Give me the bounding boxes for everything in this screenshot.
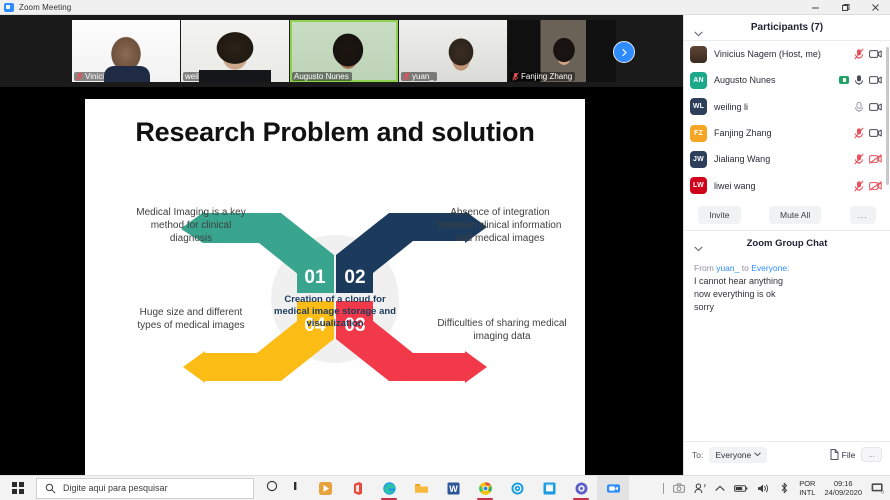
participants-header: Participants (7) (684, 15, 890, 41)
video-tile-nameplate: yuan_ (401, 72, 437, 81)
maximize-button[interactable] (830, 0, 860, 15)
start-button[interactable] (0, 476, 36, 500)
participant-name: Jialiang Wang (714, 154, 854, 164)
taskbar-search-box[interactable]: Digite aqui para pesquisar (36, 478, 254, 499)
avatar: WL (690, 98, 707, 115)
app-open-indicator (381, 498, 397, 500)
chevron-right-icon (620, 48, 629, 57)
video-tile[interactable]: yuan_ (399, 20, 507, 82)
next-participants-button[interactable] (613, 41, 635, 63)
word-icon[interactable]: W (437, 476, 469, 500)
chevron-down-icon (754, 452, 761, 457)
participant-name: Augusto Nunes (714, 75, 839, 85)
chat-from-prefix: From (694, 263, 716, 273)
bluetooth-icon[interactable] (779, 482, 790, 494)
explorer-icon[interactable] (405, 476, 437, 500)
chat-message-header: From yuan_ to Everyone: (694, 262, 880, 275)
participants-list: Vinicius Nagem (Host, me) (684, 41, 890, 199)
chat-more-button[interactable]: ... (861, 447, 882, 462)
chat-header: Zoom Group Chat (684, 231, 890, 256)
zoom-icon[interactable] (597, 476, 629, 500)
video-tile[interactable]: weiling li (181, 20, 289, 82)
mic-muted-icon[interactable] (854, 180, 864, 192)
store-icon[interactable] (533, 476, 565, 500)
mic-muted-icon (512, 72, 519, 81)
mute-all-button[interactable]: Mute All (769, 206, 821, 224)
cortana-icon[interactable] (266, 479, 278, 497)
right-side-panel: Participants (7) Vinicius Nagem (Host, m… (683, 15, 890, 475)
video-on-icon[interactable] (869, 102, 882, 112)
diagram-center-line1: Creation of a cloud for (284, 294, 386, 305)
chat-message-line: sorry (694, 301, 880, 314)
participant-status-icons (854, 180, 882, 192)
diagram-label-top-left: Medical Imaging is a key method for clin… (133, 206, 249, 246)
vlc-icon[interactable] (309, 476, 341, 500)
video-on-icon[interactable] (869, 128, 882, 138)
participants-actions: Invite Mute All ... (684, 199, 890, 231)
edge-icon[interactable] (373, 476, 405, 500)
camera-icon[interactable] (673, 483, 685, 493)
video-off-icon[interactable] (869, 154, 882, 164)
participant-row[interactable]: LW liwei wang (684, 172, 890, 198)
video-tile-nameplate: Fanjing Zhang (510, 72, 575, 81)
video-on-icon[interactable] (869, 75, 882, 85)
video-tile-name: weiling li (185, 72, 215, 81)
participant-name: weiling li (714, 102, 854, 112)
clock[interactable]: 09:16 24/09/2020 (824, 479, 862, 498)
notifications-icon[interactable]: 0 (871, 482, 884, 494)
svg-text:0: 0 (881, 489, 884, 494)
diagram-label-bottom-right: Difficulties of sharing medical imaging … (435, 317, 569, 343)
chat-recipient: Everyone (751, 263, 787, 273)
diagram-center-line3: visualization (306, 318, 363, 329)
chevron-down-icon[interactable] (694, 24, 703, 42)
search-placeholder: Digite aqui para pesquisar (63, 483, 168, 493)
video-tile-name: Fanjing Zhang (521, 72, 572, 81)
diagram-label-top-right: Absence of integration between clinical … (433, 206, 567, 246)
avatar: LW (690, 177, 707, 194)
send-file-button[interactable]: File (830, 449, 856, 460)
chat-message-line: now everything is ok (694, 288, 880, 301)
chat-to-label: To: (692, 450, 703, 460)
chevron-up-icon[interactable] (715, 485, 725, 492)
language-indicator[interactable]: POR INTL (799, 479, 815, 498)
file-icon (830, 449, 839, 460)
participants-title: Participants (7) (751, 22, 823, 33)
mic-muted-icon (76, 72, 83, 81)
avatar: AN (690, 72, 707, 89)
zoom-icon (4, 3, 14, 12)
windows-taskbar: Digite aqui para pesquisar (0, 475, 890, 500)
participant-name: Fanjing Zhang (714, 128, 854, 138)
taskbar-app-buttons: W (309, 476, 629, 500)
slide-title: Research Problem and solution (85, 117, 585, 148)
volume-icon[interactable] (757, 483, 770, 494)
participant-row[interactable]: JW Jialiang Wang (684, 146, 890, 172)
chat-recipient-select[interactable]: Everyone (709, 447, 767, 463)
app-open-indicator (573, 498, 589, 500)
participant-row[interactable]: FZ Fanjing Zhang (684, 120, 890, 146)
mic-muted-icon[interactable] (854, 153, 864, 165)
segment-02-number: 02 (344, 267, 365, 288)
invite-button[interactable]: Invite (698, 206, 740, 224)
mic-muted-icon (403, 72, 410, 81)
tray-divider (663, 483, 664, 494)
diagram-label-bottom-left: Huge size and different types of medical… (133, 306, 249, 332)
windows-logo-icon (12, 482, 24, 494)
video-tile[interactable]: Fanjing Zhang (508, 20, 616, 82)
mic-muted-icon[interactable] (854, 127, 864, 139)
chat-recipient-bar: To: Everyone File ... (684, 441, 890, 467)
participant-status-icons (854, 101, 882, 113)
clock-date: 24/09/2020 (824, 488, 862, 497)
speaking-indicator (839, 76, 849, 84)
chat-message-line: I cannot hear anything (694, 275, 880, 288)
chat-sender: yuan_ (716, 263, 739, 273)
teams-icon[interactable] (565, 476, 597, 500)
video-tile-name: Vinicius Nag... (85, 72, 136, 81)
task-view-icon[interactable] (289, 479, 301, 497)
mic-on-icon[interactable] (854, 101, 864, 113)
svg-text:R: R (704, 483, 706, 488)
people-icon[interactable]: R (694, 483, 706, 494)
chat-title: Zoom Group Chat (747, 238, 828, 249)
avatar: JW (690, 151, 707, 168)
search-icon (45, 483, 56, 494)
diagram-center-line2: medical image storage and (274, 306, 396, 317)
presentation-slide: Research Problem and solution (85, 99, 585, 482)
minimize-button[interactable] (800, 0, 830, 15)
chat-message-list: From yuan_ to Everyone: I cannot hear an… (684, 256, 890, 441)
participant-name: Vinicius Nagem (Host, me) (714, 49, 854, 59)
avatar: FZ (690, 125, 707, 142)
participant-status-icons (854, 153, 882, 165)
shared-screen-stage: Research Problem and solution (0, 87, 683, 475)
webex-icon[interactable] (501, 476, 533, 500)
office-icon[interactable] (341, 476, 373, 500)
video-tile-name: yuan_ (412, 72, 434, 81)
participant-row[interactable]: WL weiling li (684, 94, 890, 120)
file-label: File (842, 450, 856, 460)
app-open-indicator (477, 498, 493, 500)
video-tile-active-speaker[interactable]: Augusto Nunes (290, 20, 398, 82)
participants-scrollbar[interactable] (886, 47, 889, 185)
zoom-meeting-window: Zoom Meeting (0, 0, 890, 500)
language-line2: INTL (799, 488, 815, 497)
participant-row[interactable]: AN Augusto Nunes (684, 67, 890, 93)
video-tile-nameplate: weiling li (183, 72, 218, 81)
participant-status-icons (854, 48, 882, 60)
avatar (690, 46, 707, 63)
clock-time: 09:16 (824, 479, 862, 488)
chevron-down-icon[interactable] (694, 239, 703, 257)
video-tile-nameplate: Vinicius Nag... (74, 72, 139, 81)
participant-name: liwei wang (714, 181, 854, 191)
video-tile[interactable]: Vinicius Nag... (72, 20, 180, 82)
chat-to-word: to (739, 263, 751, 273)
video-on-icon[interactable] (869, 49, 882, 59)
video-tile-name: Augusto Nunes (294, 72, 349, 81)
battery-icon[interactable] (734, 484, 748, 493)
window-titlebar: Zoom Meeting (0, 0, 890, 15)
participant-row[interactable]: Vinicius Nagem (Host, me) (684, 41, 890, 67)
mic-muted-icon[interactable] (854, 48, 864, 60)
taskbar-system-buttons (266, 479, 301, 497)
video-off-icon[interactable] (869, 181, 882, 191)
participant-status-icons (854, 127, 882, 139)
participant-status-icons (839, 74, 882, 86)
window-controls (800, 0, 890, 15)
chat-recipient-value: Everyone (715, 450, 751, 460)
participants-more-button[interactable]: ... (850, 206, 876, 224)
language-line1: POR (799, 479, 815, 488)
video-filmstrip: Vinicius Nag... weiling li Augusto Nunes (0, 15, 683, 87)
chat-colon: : (787, 263, 789, 273)
svg-text:W: W (449, 484, 458, 494)
chrome-icon[interactable] (469, 476, 501, 500)
meeting-body: Vinicius Nag... weiling li Augusto Nunes (0, 15, 890, 475)
close-button[interactable] (860, 0, 890, 15)
video-tile-nameplate: Augusto Nunes (292, 72, 352, 81)
system-tray: R POR INTL 09:16 24/09/2020 (663, 479, 890, 498)
mic-on-icon[interactable] (854, 74, 864, 86)
segment-01-number: 01 (304, 267, 326, 288)
window-title: Zoom Meeting (19, 3, 71, 12)
